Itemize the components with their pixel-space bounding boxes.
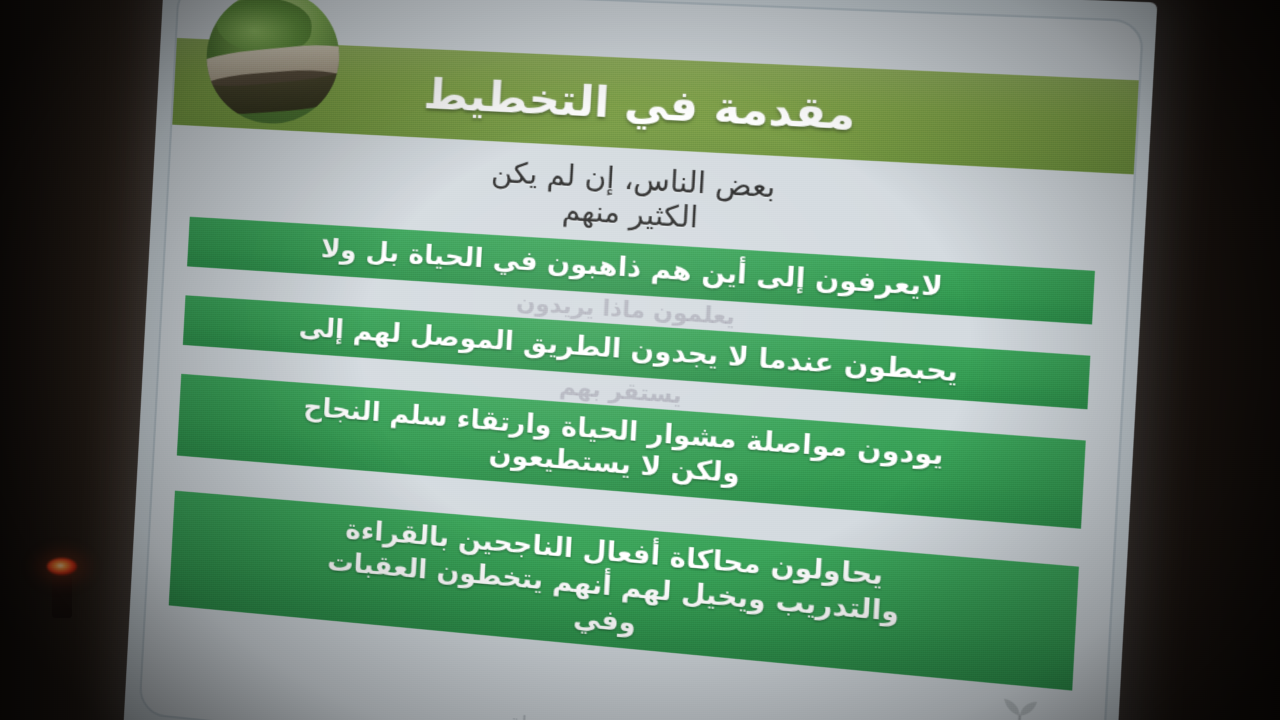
red-led-indicator [44,558,80,620]
slide-footer-note: حقوق النشر محفوظة [202,680,1030,720]
sprout-icon [998,695,1040,720]
presentation-slide: مقدمة في التخطيط بعض الناس، إن لم يكن ال… [138,0,1144,720]
room-scene: مقدمة في التخطيط بعض الناس، إن لم يكن ال… [0,0,1280,720]
led-lamp [47,558,77,575]
screen-frame: مقدمة في التخطيط بعض الناس، إن لم يكن ال… [123,0,1157,720]
bullet-list: لايعرفون إلى أين هم ذاهبون في الحياة بل … [146,215,1128,694]
projection-screen: مقدمة في التخطيط بعض الناس، إن لم يكن ال… [123,0,1157,720]
